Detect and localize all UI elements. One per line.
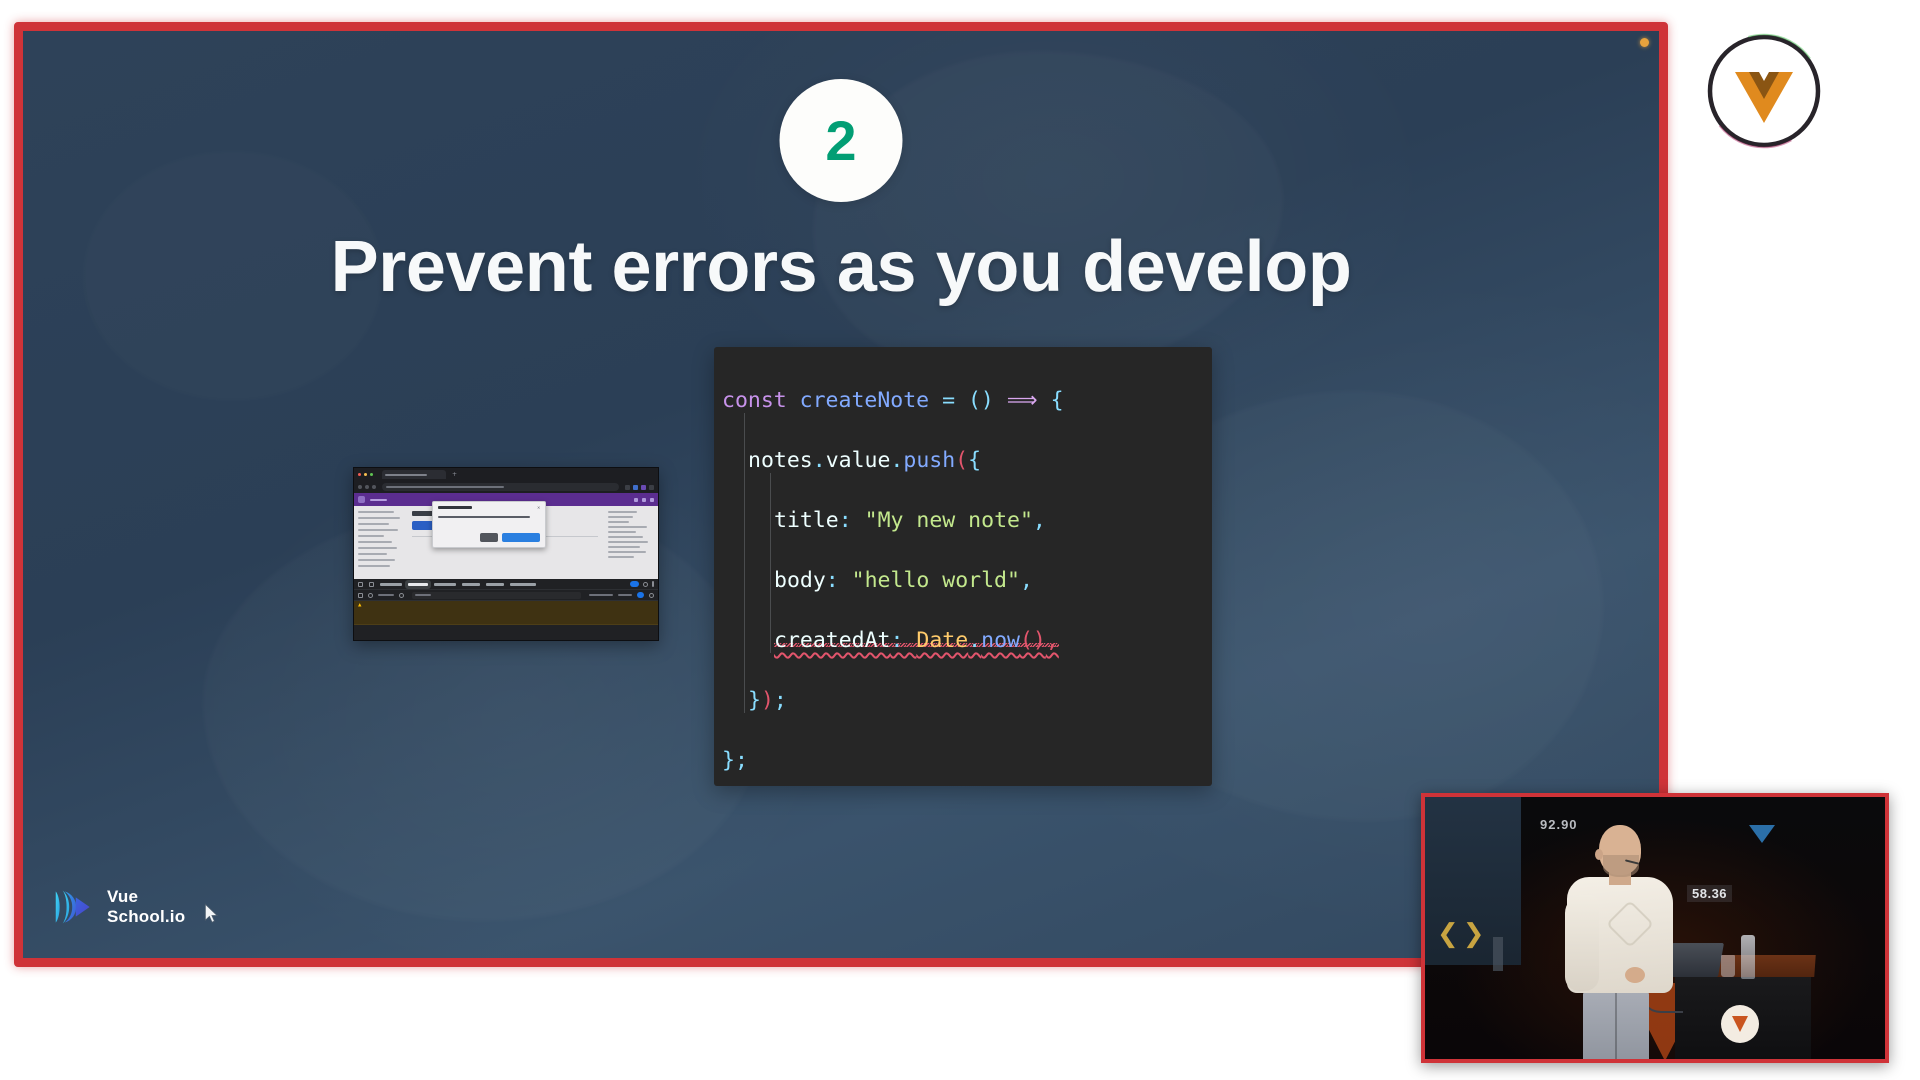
code-token: . [813,448,826,473]
step-number: 2 [825,113,856,169]
settings-gear-icon [643,582,648,587]
extension-icon [641,485,646,490]
brand-line-2: School.io [107,907,185,928]
modal-title [438,506,472,509]
water-bottle [1741,935,1755,979]
browser-tab [382,470,446,479]
vue-logo-badge [1703,30,1825,152]
indent-guide [744,413,745,473]
devtools-tab-performance [510,583,536,586]
code-line: title: "My new note", [714,491,1212,551]
speaker-video-thumbnail: ❮❯ 92.90 58.36 [1421,793,1889,1063]
browser-screenshot-thumbnail: + [353,467,659,641]
more-options-icon [652,581,654,587]
code-token: createdAt [774,628,891,653]
devtools-tab-elements [380,583,402,586]
code-line: notes.value.push({ [714,431,1212,491]
code-token: Date [916,628,968,653]
indent-guide [770,593,771,653]
speaker-figure [1559,825,1689,1063]
code-token: () [968,388,994,413]
modal-secondary-button [480,533,498,542]
code-token: : [826,568,852,593]
stage-triangle-icon [1749,825,1775,843]
code-token: , [1020,568,1033,593]
code-token: . [890,448,903,473]
issues-label [618,594,632,596]
devtools-tab-bar [354,579,658,590]
code-token: "hello world" [852,568,1020,593]
code-token: ( [955,448,968,473]
site-nav-links [370,499,387,501]
indent-guide [744,593,745,653]
forward-icon [365,485,369,489]
modal-body-text [438,516,530,518]
log-level-selector [589,594,613,596]
inspect-element-icon [358,582,363,587]
devtools-panel: ▲ [354,579,658,641]
issues-count-badge [637,592,644,598]
context-selector [378,594,394,596]
code-token: "My new note" [865,508,1033,533]
warning-triangle-icon: ▲ [358,603,361,622]
vueschool-mark-icon [53,887,95,927]
window-zoom-dot [370,473,373,476]
console-filter-bar [354,590,658,601]
mouse-cursor-icon [204,903,219,924]
code-token: , [1033,508,1046,533]
code-token: , [1046,628,1059,653]
devtools-tab-console [408,583,428,586]
code-token: . [968,628,981,653]
speaker-ear [1595,849,1603,860]
glass [1721,955,1735,977]
stage-number-right: 58.36 [1687,885,1732,902]
code-token: } [722,748,735,773]
code-line: const createNote = () ⟹ { [714,371,1212,431]
speaker-beard [1603,855,1639,877]
vueschool-wordmark: Vue School.io [107,887,185,928]
modal-actions [480,533,540,542]
brand-line-1: Vue [107,887,185,908]
indent-guide [744,533,745,593]
extension-icon [633,485,638,490]
code-token: { [1051,388,1064,413]
site-nav-actions [634,498,654,502]
extension-icon [625,485,630,490]
profile-icon [649,485,654,490]
devtools-tab-network [486,583,504,586]
speaker-arm [1565,895,1599,991]
no-entry-icon [368,593,373,598]
modal-primary-button [502,533,540,542]
code-token: notes [748,448,813,473]
stage-slab [1493,937,1503,971]
recording-indicator-dot [1640,38,1649,47]
code-token: ; [735,748,748,773]
issues-badge [630,581,639,587]
browser-url-bar [354,481,658,493]
presentation-slide-frame: 2 Prevent errors as you develop const cr… [14,22,1668,967]
code-line: }; [714,731,1212,786]
code-token: = [929,388,968,413]
site-logo-icon [358,496,365,503]
stage-chevrons-icon: ❮❯ [1437,919,1489,949]
code-line: }); [714,671,1212,731]
console-settings-icon [649,593,654,598]
browser-viewport: ✕ [354,493,658,579]
devtools-tab-recorder [434,583,456,586]
speaker-hand [1625,967,1645,983]
code-snippet: const createNote = () ⟹ {notes.value.pus… [714,347,1212,786]
browser-tab-bar: + [354,468,658,481]
code-token: } [748,688,761,713]
console-filter-input [412,592,581,599]
code-token: now [981,628,1020,653]
presentation-slide: 2 Prevent errors as you develop const cr… [23,31,1659,958]
code-token: ⟹ [994,388,1051,413]
device-toolbar-icon [369,582,374,587]
code-token: : [891,628,917,653]
vueschool-logo: Vue School.io [53,887,185,928]
site-sidebar [354,506,406,579]
indent-guide [744,653,745,713]
code-token: createNote [800,388,929,413]
speaker-legs [1583,989,1649,1063]
new-tab-icon: + [452,471,457,478]
address-field [382,483,619,491]
code-token: : [839,508,865,533]
browser-modal-dialog: ✕ [432,501,546,548]
code-line: body: "hello world", [714,551,1212,611]
indent-guide [770,533,771,593]
code-token: push [903,448,955,473]
screen: 2 Prevent errors as you develop const cr… [0,0,1920,1080]
console-prompt [354,625,658,631]
code-token: body [774,568,826,593]
podium-logo-badge [1721,1005,1759,1043]
code-token: ) [761,688,774,713]
console-warning-row: ▲ [354,601,658,625]
code-token: ; [774,688,787,713]
code-token: () [1020,628,1046,653]
step-number-badge: 2 [780,79,903,202]
eye-icon [399,593,404,598]
code-token: value [826,448,891,473]
clear-console-icon [358,593,363,598]
devtools-tab-sources [462,583,480,586]
reload-icon [372,485,376,489]
indent-guide [744,473,745,533]
code-line: createdAt: Date.now(), [714,611,1212,671]
code-token: const [722,388,800,413]
slide-title: Prevent errors as you develop [23,226,1659,308]
window-close-dot [358,473,361,476]
modal-close-icon: ✕ [537,506,540,509]
site-right-column [604,506,658,579]
indent-guide [770,473,771,533]
code-token: { [968,448,981,473]
code-token: title [774,508,839,533]
back-icon [358,485,362,489]
window-minimize-dot [364,473,367,476]
